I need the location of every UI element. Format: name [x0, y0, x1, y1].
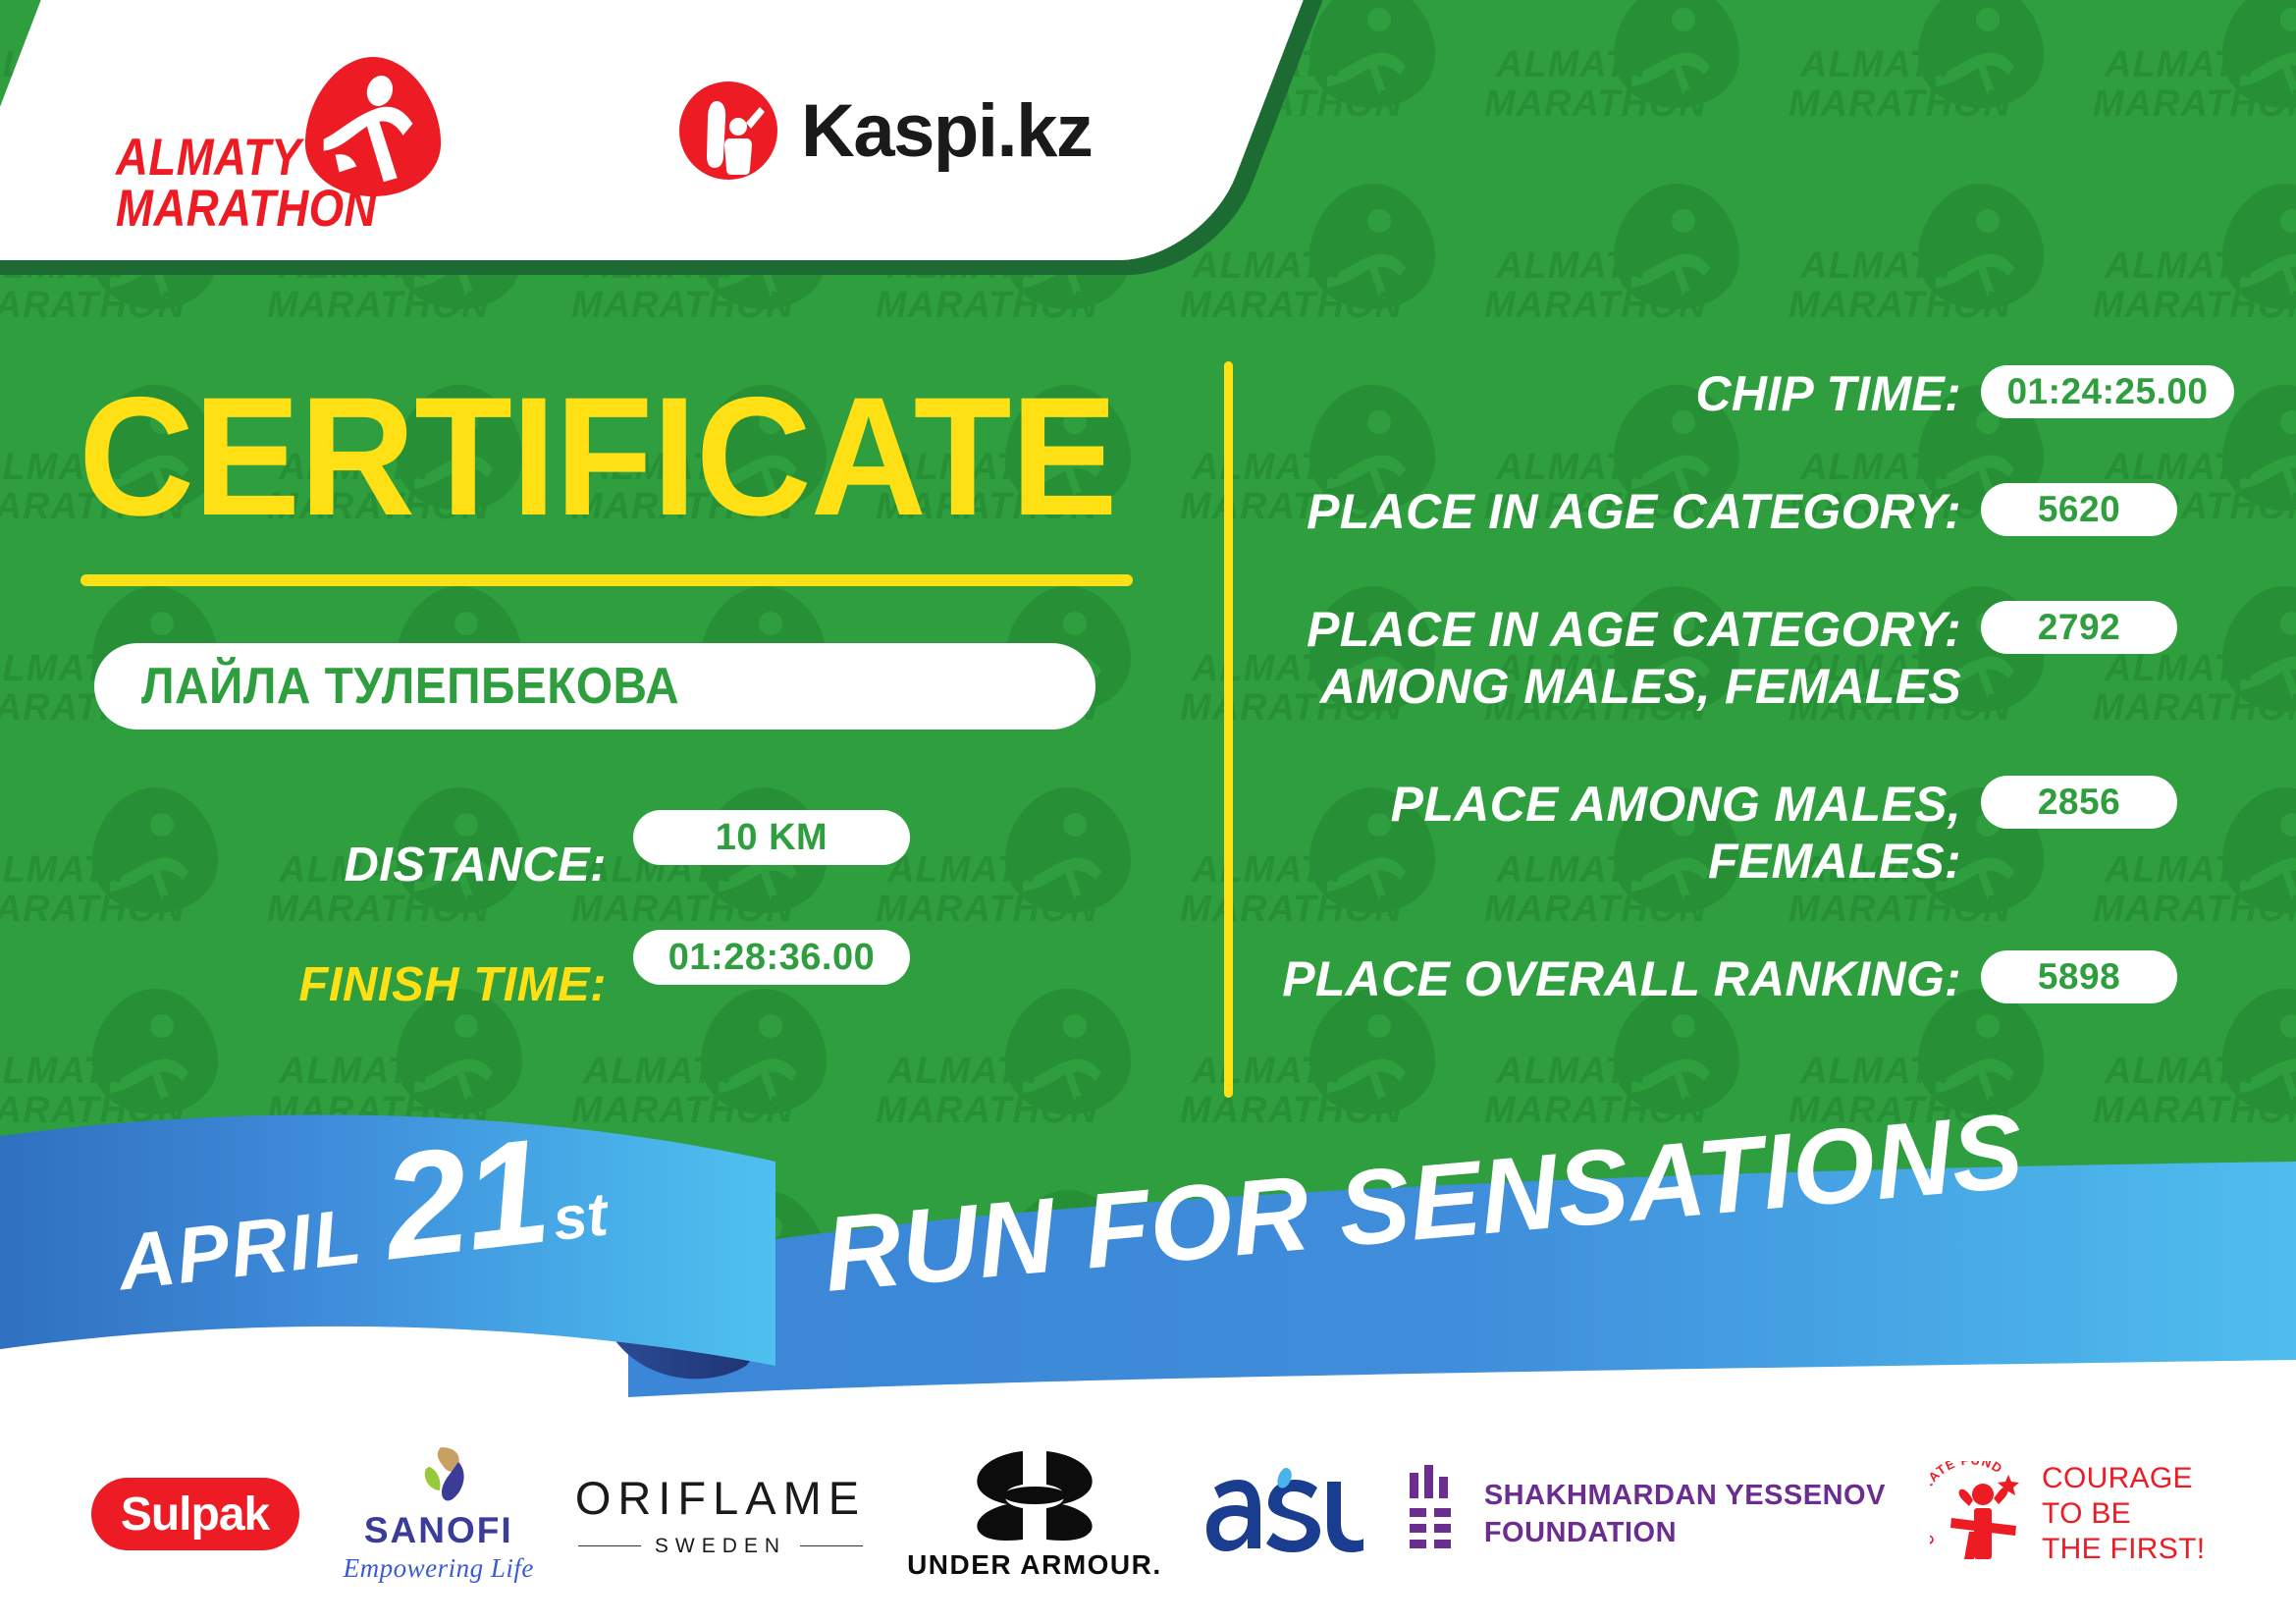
- courage-line1: COURAGE: [2042, 1461, 2205, 1496]
- almaty-marathon-wordmark: ALMATY MARATHON: [116, 133, 381, 235]
- stat-label-line1: PLACE AMONG MALES,: [1391, 777, 1961, 832]
- kaspi-wordmark: Kaspi.kz: [801, 88, 1092, 174]
- sponsor-oriflame: ORIFLAME SWEDEN: [578, 1445, 863, 1583]
- event-day: 21: [375, 1106, 556, 1295]
- sponsor-sanofi: SANOFI Empowering Life: [344, 1445, 534, 1583]
- oriflame-rule-right: [800, 1545, 863, 1547]
- event-month: APRIL: [114, 1191, 368, 1309]
- vertical-divider: [1224, 361, 1233, 1098]
- stat-row-chip-time: CHIP TIME: 01:24:25.00: [1266, 365, 2209, 444]
- left-stats-list: DISTANCE: 10 KM FINISH TIME: 01:28:36.00: [0, 805, 1207, 1045]
- stat-value-chip-time: 01:24:25.00: [1981, 365, 2234, 418]
- stat-label-line2: FEMALES:: [1708, 834, 1961, 889]
- sulpak-logo: Sulpak: [91, 1478, 299, 1550]
- stat-label-place-age-category-gender: PLACE IN AGE CATEGORY: AMONG MALES, FEMA…: [1266, 601, 1961, 715]
- courage-first-icon: CORPORATE FUND: [1930, 1461, 2032, 1567]
- sponsor-under-armour: UNDER ARMOUR.: [907, 1445, 1162, 1583]
- courage-line2: TO BE: [2042, 1496, 2205, 1532]
- yessenov-foundation-icon: [1408, 1465, 1463, 1563]
- stat-label-finish-time: FINISH TIME:: [0, 957, 607, 1012]
- sanofi-tagline: Empowering Life: [344, 1553, 534, 1584]
- stat-value-finish-time: 01:28:36.00: [633, 930, 910, 985]
- oriflame-tagline: SWEDEN: [655, 1535, 786, 1558]
- stat-value-distance: 10 KM: [633, 810, 910, 865]
- courage-line3: THE FIRST!: [2042, 1532, 2205, 1567]
- stat-label-line2: AMONG MALES, FEMALES: [1320, 659, 1961, 714]
- sponsor-asu: [1206, 1445, 1363, 1583]
- stat-row-distance: DISTANCE: 10 KM: [0, 805, 1207, 870]
- participant-name-field: ЛАЙЛА ТУЛЕПБЕКОВА: [94, 643, 1095, 730]
- oriflame-rule-left: [578, 1545, 641, 1547]
- participant-name-value: ЛАЙЛА ТУЛЕПБЕКОВА: [141, 657, 679, 716]
- stat-value-place-age-category: 5620: [1981, 483, 2177, 536]
- sponsor-sulpak: Sulpak: [91, 1445, 299, 1583]
- almaty-marathon-wordmark-line2: MARATHON: [116, 184, 344, 235]
- certificate-canvas: ALMATY MARATHON ALMATY MARATHON: [0, 0, 2296, 1624]
- stat-row-place-overall: PLACE OVERALL RANKING: 5898: [1266, 950, 2209, 1029]
- stat-label-place-age-category: PLACE IN AGE CATEGORY:: [1266, 483, 1961, 540]
- stat-label-chip-time: CHIP TIME:: [1266, 365, 1961, 422]
- sanofi-wordmark: SANOFI: [364, 1510, 513, 1551]
- stat-row-place-age-category-gender: PLACE IN AGE CATEGORY: AMONG MALES, FEMA…: [1266, 601, 2209, 736]
- stat-label-place-overall: PLACE OVERALL RANKING:: [1266, 950, 1961, 1007]
- event-day-suffix: st: [550, 1179, 612, 1255]
- almaty-marathon-logo: ALMATY MARATHON: [116, 54, 440, 221]
- almaty-marathon-wordmark-line1: ALMATY: [116, 133, 344, 184]
- stat-row-finish-time: FINISH TIME: 01:28:36.00: [0, 925, 1207, 990]
- stat-value-place-age-category-gender: 2792: [1981, 601, 2177, 654]
- title-underline: [80, 574, 1133, 586]
- stat-value-place-overall: 5898: [1981, 950, 2177, 1003]
- stat-label-distance: DISTANCE:: [0, 838, 607, 893]
- under-armour-wordmark: UNDER ARMOUR.: [907, 1549, 1162, 1581]
- page-title: CERTIFICATE: [79, 378, 1117, 535]
- stat-row-place-age-category: PLACE IN AGE CATEGORY: 5620: [1266, 483, 2209, 562]
- asu-logo: [1206, 1466, 1363, 1562]
- kaspi-figures-icon: [677, 80, 779, 182]
- under-armour-icon: [962, 1447, 1107, 1543]
- stat-label-line1: PLACE IN AGE CATEGORY:: [1307, 602, 1961, 657]
- sanofi-icon: [404, 1445, 473, 1506]
- sponsor-yessenov-foundation: SHAKHMARDAN YESSENOV FOUNDATION: [1408, 1445, 1886, 1583]
- stat-label-place-among-gender: PLACE AMONG MALES, FEMALES:: [1266, 776, 1961, 890]
- stat-value-place-among-gender: 2856: [1981, 776, 2177, 829]
- oriflame-wordmark: ORIFLAME: [575, 1471, 866, 1525]
- stat-row-place-among-gender: PLACE AMONG MALES, FEMALES: 2856: [1266, 776, 2209, 911]
- sponsor-courage-to-be-the-first: CORPORATE FUND COURAGE TO BE: [1930, 1445, 2205, 1583]
- yessenov-foundation-line2: FOUNDATION: [1484, 1514, 1886, 1551]
- sponsor-bar: Sulpak SANOFI Empowering Life ORIFLAME S…: [0, 1404, 2296, 1624]
- right-stats-list: CHIP TIME: 01:24:25.00 PLACE IN AGE CATE…: [1266, 365, 2209, 1068]
- yessenov-foundation-line1: SHAKHMARDAN YESSENOV: [1484, 1477, 1886, 1514]
- kaspi-logo: Kaspi.kz: [677, 77, 1092, 185]
